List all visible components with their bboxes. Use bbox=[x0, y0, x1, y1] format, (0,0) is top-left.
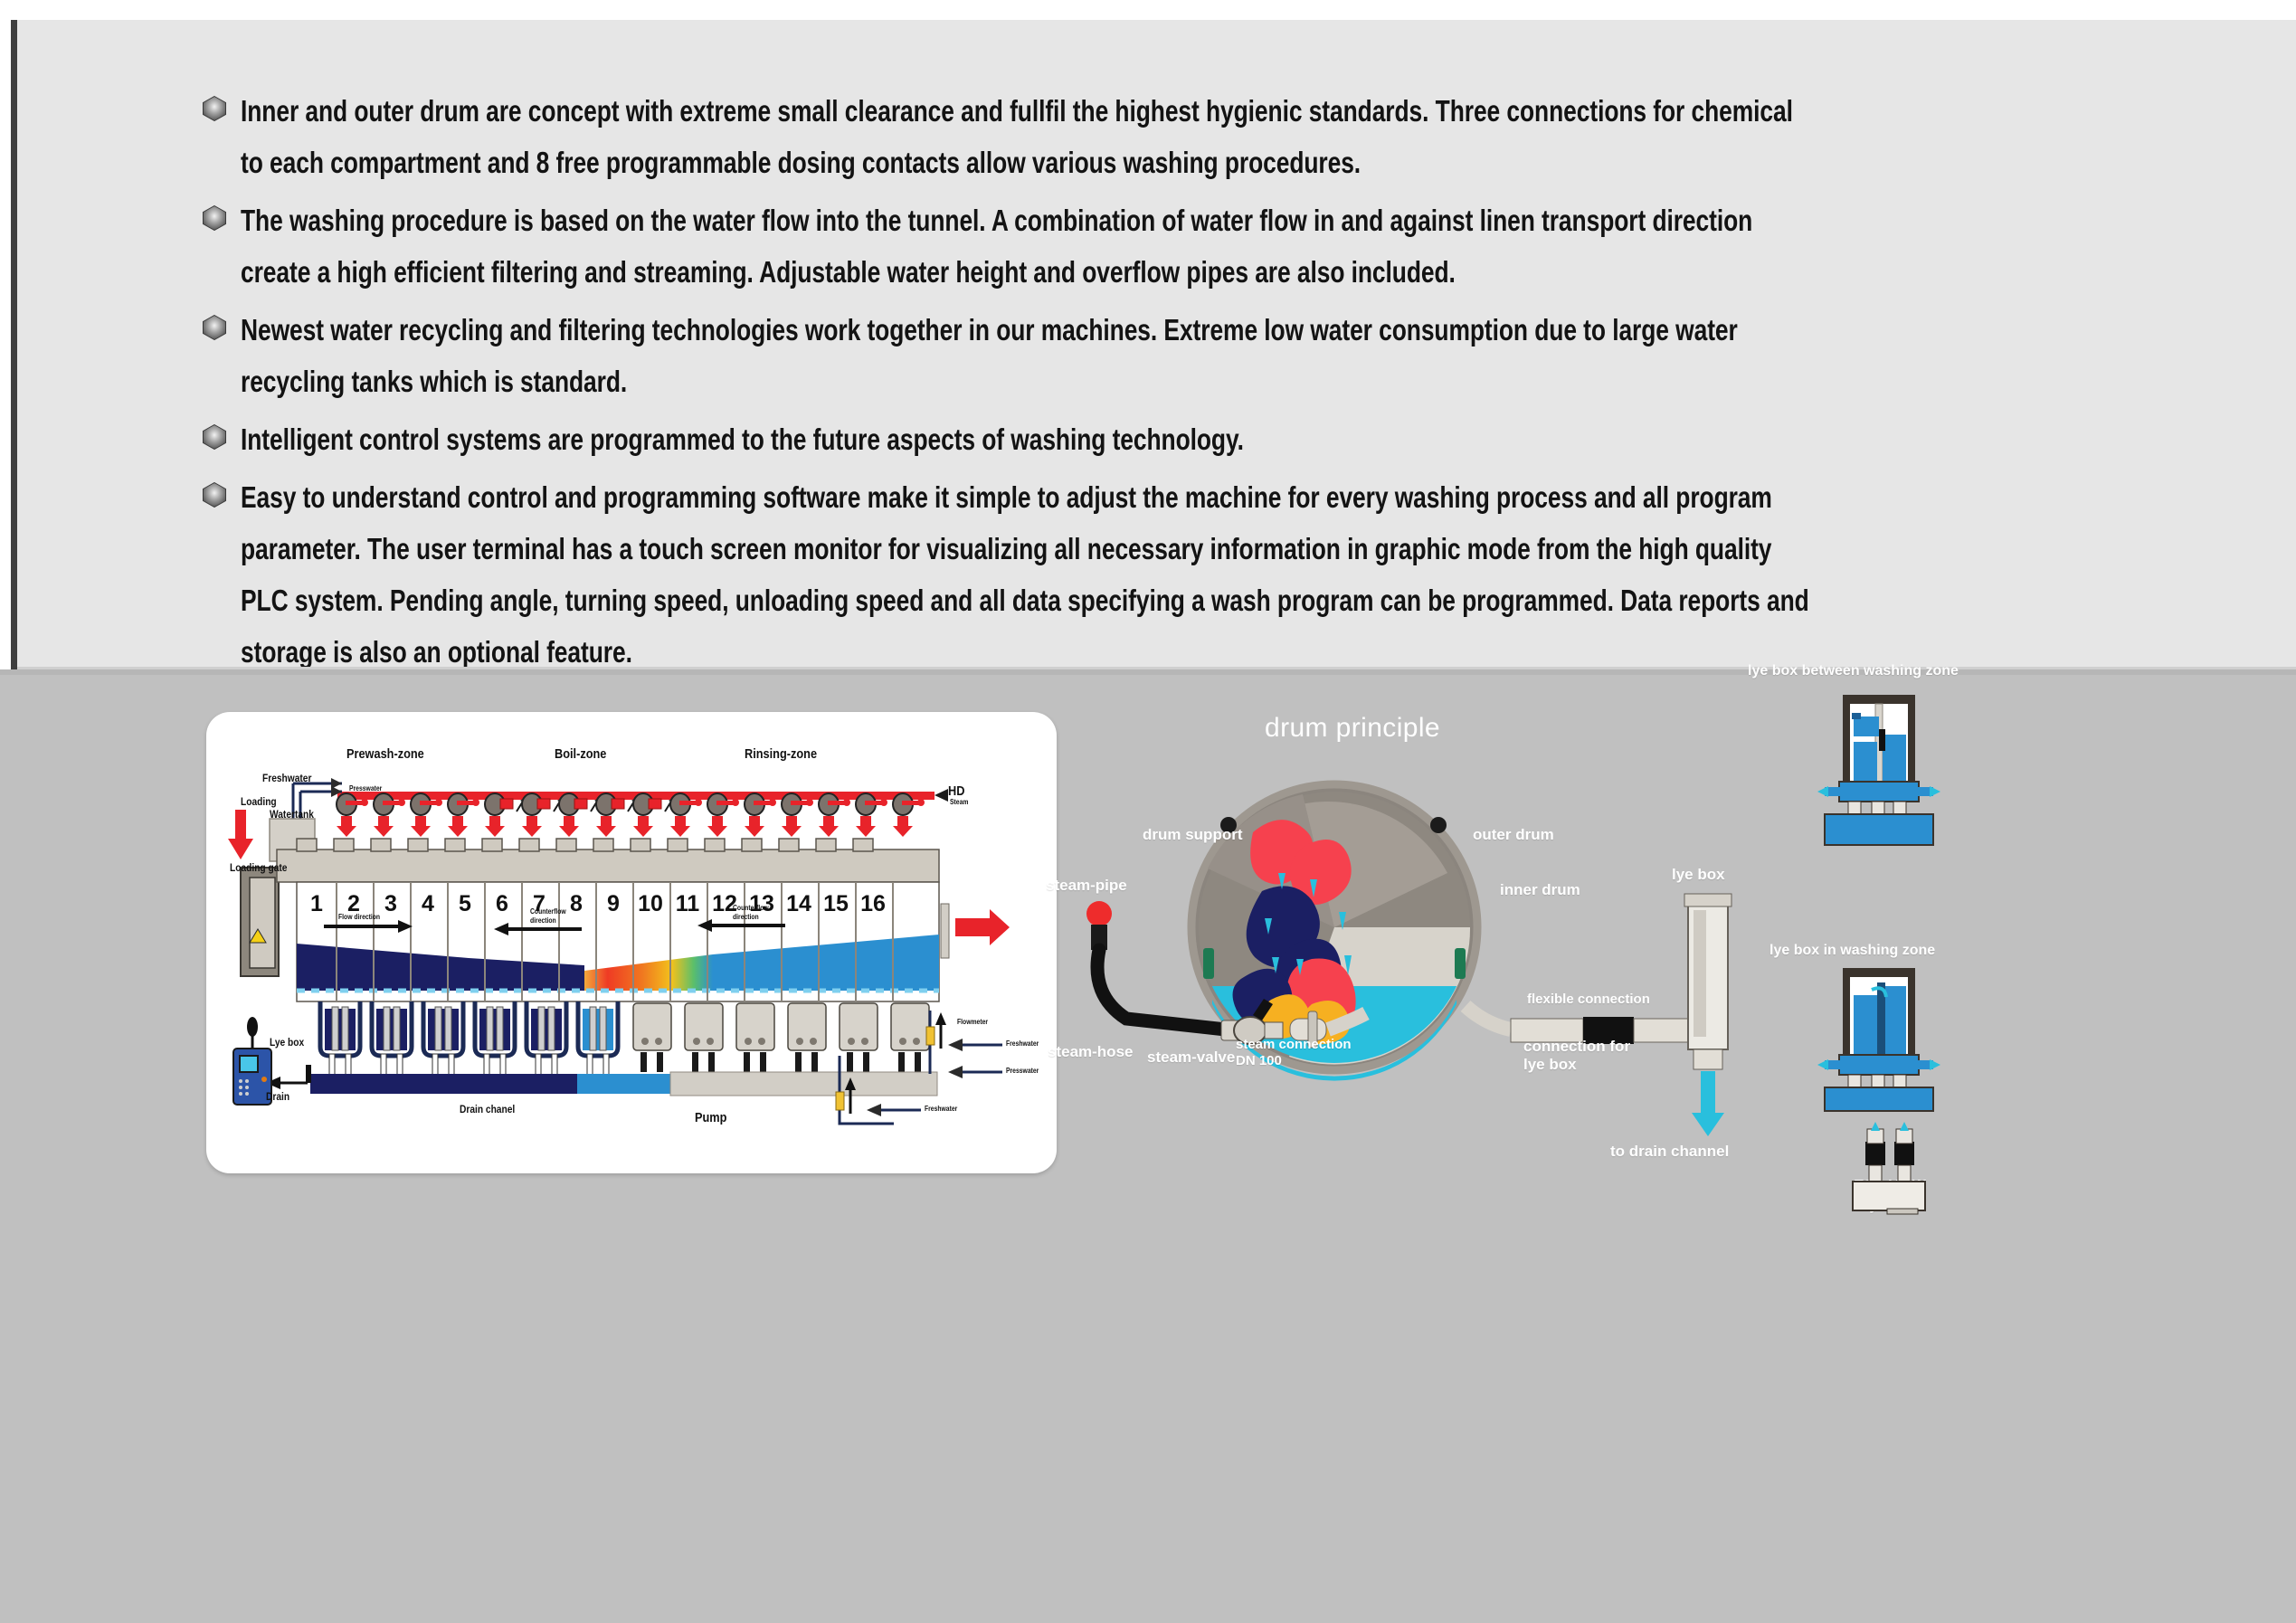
intro-bullet-text: Easy to understand control and programmi… bbox=[241, 471, 1809, 678]
label-freshwater-top: Freshwater bbox=[262, 772, 311, 784]
compartment-number: 1 bbox=[297, 891, 337, 917]
compartment-number: 4 bbox=[408, 891, 448, 917]
label-lye-box-drum: lye box bbox=[1672, 865, 1725, 884]
label-loading: Loading bbox=[241, 795, 277, 808]
compartment-number: 7 bbox=[519, 891, 559, 917]
label-outer-drum: outer drum bbox=[1473, 825, 1554, 844]
compartment-number: 8 bbox=[556, 891, 596, 917]
label-connection-for-lye-box-2: lye box bbox=[1523, 1055, 1577, 1074]
label-presswater-top: Presswater bbox=[349, 784, 382, 793]
tunnel-washer-schematic: Prewash-zone Boil-zone Rinsing-zone bbox=[206, 712, 1057, 1173]
label-inner-drum: inner drum bbox=[1500, 880, 1580, 899]
label-flexible-connection: flexible connection bbox=[1527, 990, 1650, 1009]
hex-bullet-icon bbox=[203, 315, 226, 340]
lye-box-illustrations: lye box between washing zone lye box in … bbox=[1746, 669, 2135, 1285]
label-lye-box: Lye box bbox=[270, 1036, 304, 1049]
hex-bullet-icon bbox=[203, 205, 226, 231]
label-pump: Pump bbox=[695, 1110, 726, 1125]
intro-bullet-text: Newest water recycling and filtering tec… bbox=[241, 304, 1809, 407]
compartment-number: 5 bbox=[445, 891, 485, 917]
compartment-number: 6 bbox=[482, 891, 522, 917]
compartment-number: 11 bbox=[668, 891, 707, 917]
list-item: Inner and outer drum are concept with ex… bbox=[203, 85, 2202, 188]
compartment-number: 3 bbox=[371, 891, 411, 917]
compartment-number: 12 bbox=[705, 891, 745, 917]
label-to-drain-channel: to drain channel bbox=[1610, 1142, 1729, 1161]
list-item: Newest water recycling and filtering tec… bbox=[203, 304, 2202, 407]
page-root: Inner and outer drum are concept with ex… bbox=[0, 0, 2296, 1623]
label-hd: HD bbox=[948, 783, 964, 799]
compartment-number: 15 bbox=[816, 891, 856, 917]
drum-principle-diagram: drum principle bbox=[1040, 688, 1855, 1230]
label-steam-connection-dn: DN 100 bbox=[1236, 1051, 1282, 1070]
label-drum-support: drum support bbox=[1143, 825, 1243, 844]
label-counterflow-1b: direction bbox=[530, 916, 556, 925]
label-steam-valve: steam-valve bbox=[1147, 1048, 1235, 1067]
intro-bullet-list: Inner and outer drum are concept with ex… bbox=[203, 85, 2202, 753]
lower-grey-area: Prewash-zone Boil-zone Rinsing-zone bbox=[0, 669, 2296, 1623]
compartment-number: 2 bbox=[334, 891, 374, 917]
lye-box-drawings bbox=[1746, 669, 2135, 1285]
hex-bullet-icon bbox=[203, 424, 226, 450]
list-item: The washing procedure is based on the wa… bbox=[203, 195, 2202, 298]
label-drain-chanel: Drain chanel bbox=[460, 1103, 515, 1115]
label-connection-for-lye-box: connection for bbox=[1523, 1037, 1630, 1056]
label-flowmeter: Flowmeter bbox=[957, 1018, 988, 1026]
list-item: Easy to understand control and programmi… bbox=[203, 471, 2202, 678]
label-steam-pipe: steam-pipe bbox=[1046, 876, 1127, 895]
intro-bullet-text: Intelligent control systems are programm… bbox=[241, 413, 1809, 465]
list-item: Intelligent control systems are programm… bbox=[203, 413, 2202, 465]
label-loading-gate: Loading gate bbox=[230, 861, 287, 874]
hex-bullet-icon bbox=[203, 96, 226, 121]
label-steam: Steam bbox=[950, 798, 968, 806]
compartment-number: 16 bbox=[853, 891, 893, 917]
label-watertank: Watertank bbox=[270, 808, 314, 821]
compartment-number: 13 bbox=[742, 891, 782, 917]
label-presswater-right: Presswater bbox=[1006, 1067, 1039, 1075]
intro-panel: Inner and outer drum are concept with ex… bbox=[11, 20, 2296, 669]
label-steam-hose: steam-hose bbox=[1048, 1042, 1133, 1061]
label-freshwater-right-1: Freshwater bbox=[1006, 1039, 1039, 1048]
compartment-number: 9 bbox=[593, 891, 633, 917]
intro-bullet-text: Inner and outer drum are concept with ex… bbox=[241, 85, 1809, 188]
drum-drawing bbox=[1040, 688, 1855, 1230]
compartment-number: 10 bbox=[631, 891, 670, 917]
intro-bullet-text: The washing procedure is based on the wa… bbox=[241, 195, 1809, 298]
hex-bullet-icon bbox=[203, 482, 226, 508]
label-freshwater-right-2: Freshwater bbox=[925, 1105, 957, 1113]
compartment-number: 14 bbox=[779, 891, 819, 917]
label-drain: Drain bbox=[266, 1090, 289, 1103]
